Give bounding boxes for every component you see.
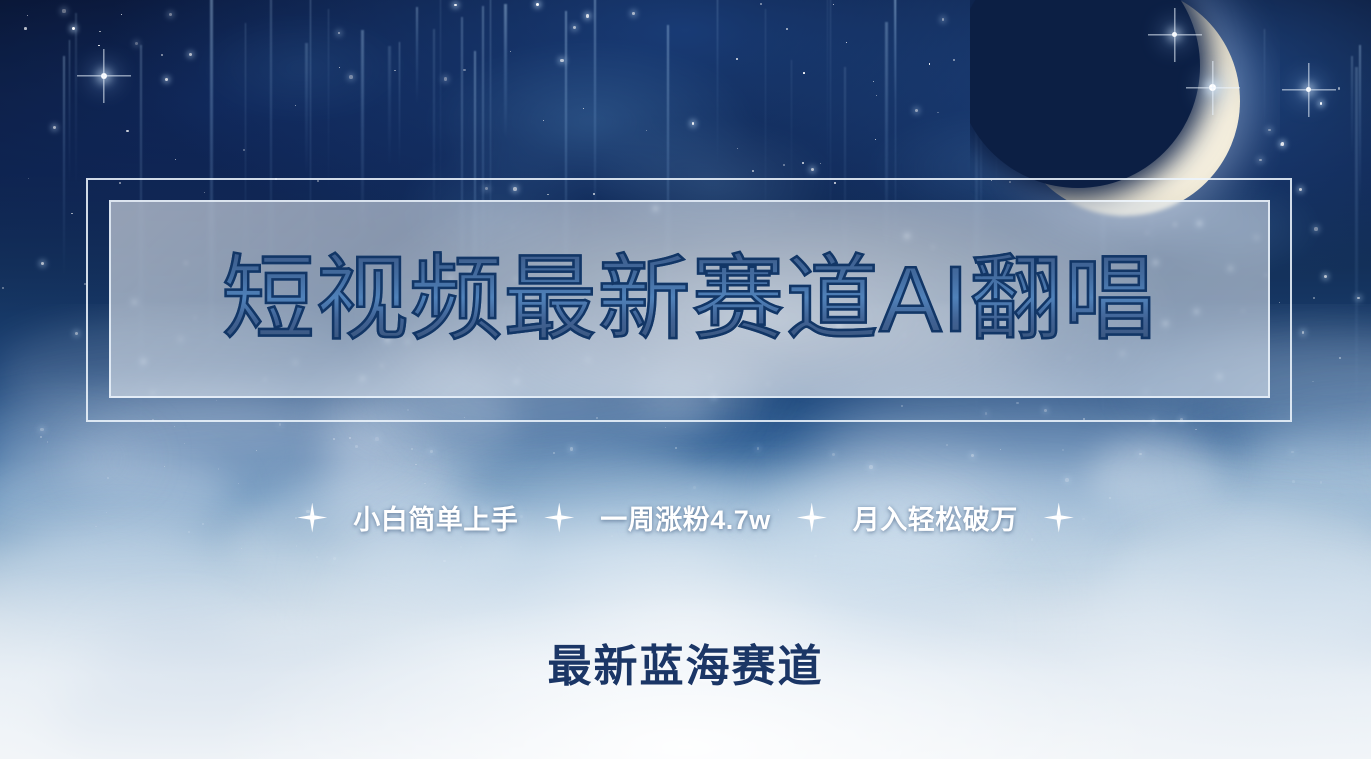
star-dot — [295, 105, 296, 106]
star-dot — [811, 168, 814, 171]
star-dot — [463, 69, 466, 72]
star-dot — [834, 182, 836, 184]
star-dot — [1320, 102, 1323, 105]
star-dot — [53, 126, 56, 129]
star-dot — [28, 178, 29, 179]
star-dot — [275, 178, 277, 180]
star-dot — [632, 12, 635, 15]
star-dot — [876, 95, 877, 96]
star-dot — [547, 194, 548, 195]
star-dot — [875, 139, 876, 140]
star-dot — [189, 53, 192, 56]
sparkle-icon — [297, 503, 327, 533]
sparkle-icon — [1044, 503, 1074, 533]
star-dot — [204, 192, 205, 193]
star-dot — [915, 109, 918, 112]
star-dot — [510, 51, 512, 53]
star-dot — [84, 283, 86, 285]
star-dot — [99, 31, 100, 32]
feature-item-3: 月入轻松破万 — [827, 498, 1044, 537]
star-dot — [929, 63, 931, 65]
star-dot — [454, 4, 457, 7]
star-dot — [846, 42, 847, 43]
star-dot — [593, 193, 595, 195]
star-dot — [1313, 297, 1315, 299]
star-dot — [175, 159, 176, 160]
star-dot — [543, 120, 544, 121]
star-dot — [169, 13, 172, 16]
star-dot — [833, 4, 834, 5]
feature-item-1: 小白简单上手 — [327, 498, 544, 537]
star-dot — [72, 27, 75, 30]
star-dot — [873, 81, 874, 82]
star-dot — [646, 130, 648, 132]
star-dot — [165, 78, 169, 82]
frosted-panel: 短视频最新赛道AI翻唱 — [109, 200, 1270, 398]
star-dot — [737, 148, 738, 149]
star-dot — [586, 14, 590, 18]
star-dot — [1324, 275, 1327, 278]
star-dot — [736, 58, 738, 60]
star-dot — [573, 26, 576, 29]
star-dot — [783, 164, 785, 166]
star-dot — [41, 262, 44, 265]
flare-star-icon — [1306, 87, 1311, 92]
star-dot — [786, 28, 788, 30]
star-dot — [560, 59, 563, 62]
star-dot — [583, 108, 584, 109]
star-dot — [1338, 87, 1340, 89]
flare-star-icon — [1209, 84, 1216, 91]
star-dot — [338, 32, 341, 35]
star-dot — [71, 213, 73, 215]
star-dot — [803, 72, 805, 74]
star-dot — [135, 42, 138, 45]
star-dot — [802, 162, 804, 164]
flare-star-icon — [1172, 32, 1177, 37]
star-dot — [2, 287, 4, 289]
star-dot — [1281, 142, 1284, 145]
sparkle-icon — [544, 503, 574, 533]
star-dot — [27, 15, 28, 16]
flare-star-icon — [101, 73, 107, 79]
sparkle-icon — [797, 503, 827, 533]
feature-item-2: 一周涨粉4.7w — [574, 498, 797, 537]
star-dot — [513, 187, 517, 191]
feature-list: 小白简单上手 一周涨粉4.7w 月入轻松破万 — [0, 498, 1371, 537]
star-dot — [937, 112, 939, 114]
star-dot — [243, 149, 245, 151]
star-dot — [1299, 188, 1302, 191]
star-dot — [394, 70, 396, 72]
star-dot — [62, 9, 65, 12]
star-dot — [820, 163, 821, 164]
star-dot — [161, 54, 163, 56]
page-title: 短视频最新赛道AI翻唱 — [222, 253, 1158, 346]
star-dot — [119, 182, 121, 184]
poster-canvas: 短视频最新赛道AI翻唱 小白简单上手 一周涨粉4.7w 月入轻松破万 最新蓝海赛… — [0, 0, 1371, 759]
star-dot — [953, 59, 956, 62]
star-dot — [1314, 227, 1318, 231]
star-dot — [485, 187, 488, 190]
star-dot — [752, 170, 754, 172]
star-dot — [536, 3, 539, 6]
star-dot — [692, 122, 695, 125]
star-dot — [126, 130, 128, 132]
star-dot — [1357, 297, 1360, 300]
star-dot — [444, 77, 447, 80]
star-dot — [349, 75, 353, 79]
star-dot — [339, 67, 340, 68]
crescent-moon-icon — [1010, 0, 1240, 216]
star-dot — [24, 27, 27, 30]
star-dot — [760, 3, 762, 5]
star-dot — [121, 14, 122, 15]
tagline: 最新蓝海赛道 — [0, 630, 1371, 694]
star-dot — [317, 180, 319, 182]
star-dot — [942, 18, 945, 21]
star-dot — [98, 45, 100, 47]
